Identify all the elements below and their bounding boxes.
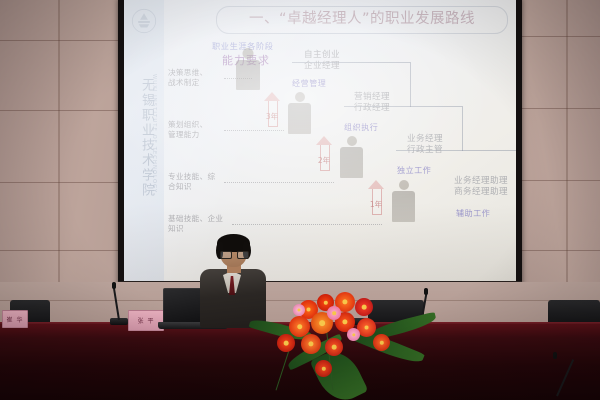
eyeglasses-right [237,251,249,259]
competency-label-3: 专业技能、综 合知识 [168,172,230,192]
year-label-2: 2年 [315,155,333,166]
leader-line-4 [232,224,382,225]
role-title-3: 业务经理 行政主管 [407,134,443,156]
microphone-head-4 [553,352,557,359]
leader-line-2 [224,130,284,131]
nameplate-left: 崔 华 [2,310,28,328]
role-skill-2: 组织执行 [344,122,378,133]
eyeglasses-left [220,251,232,259]
role-skill-3: 独立工作 [397,165,431,176]
conference-presentation-photo: 无锡职业技术学院 WUXI INSTITUTE OF TECHNOLOGY 一、… [0,0,600,400]
banner-english-text: WUXI INSTITUTE OF TECHNOLOGY [151,74,157,193]
competency-label-2: 策划组织、 管理能力 [168,120,230,140]
year-label-1: 1年 [367,199,385,210]
role-title-1: 自主创业 企业经理 [304,50,340,72]
flower-arrangement [255,290,455,400]
competency-label-1: 决策思维、 战术制定 [168,68,230,88]
competency-label-4: 基础技能、企业 知识 [168,214,238,234]
projection-screen: 无锡职业技术学院 WUXI INSTITUTE OF TECHNOLOGY 一、… [124,0,516,282]
role-skill-1: 经营管理 [292,78,326,89]
slide-person-photo-2 [288,92,311,134]
year-label-3: 3年 [263,111,281,122]
leader-line-3 [224,182,334,183]
college-banner: 无锡职业技术学院 WUXI INSTITUTE OF TECHNOLOGY [124,0,164,282]
slide-person-photo-4 [392,180,415,222]
role-skill-4: 辅助工作 [456,208,490,219]
year-arrow-2: 2年 [316,136,332,170]
slide-person-photo-1 [236,48,260,90]
slide-title: 一、“卓越经理人”的职业发展路线 [222,9,502,29]
slide-person-photo-3 [340,136,363,178]
year-arrow-3: 3年 [264,92,280,126]
role-title-2: 营销经理 行政经理 [354,92,390,114]
college-emblem-icon [131,8,157,34]
role-title-4: 业务经理助理 商务经理助理 [454,176,508,198]
microphone-head-1 [112,282,116,289]
year-arrow-1: 1年 [368,180,384,214]
